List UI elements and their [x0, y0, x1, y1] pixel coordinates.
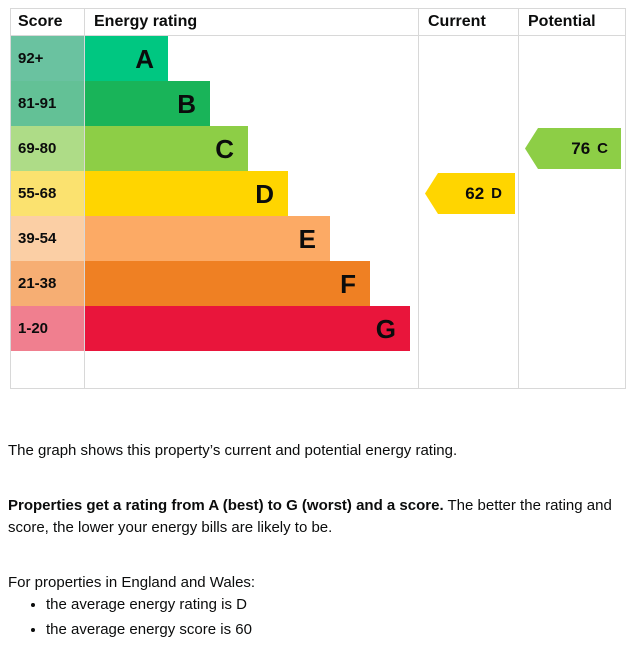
rating-letter-b: B: [177, 91, 196, 117]
current-rating-marker: 62D: [425, 173, 515, 214]
rating-bar-e: E: [85, 216, 330, 261]
list-item: the average energy rating is D: [46, 592, 252, 617]
rating-bar-g: G: [85, 306, 410, 351]
region-averages-list: the average energy rating is Dthe averag…: [8, 592, 252, 642]
score-range-e: 39-54: [11, 216, 84, 261]
rating-letter-g: G: [376, 316, 396, 342]
rating-band-g: 1-20G: [10, 306, 626, 351]
rating-bar-b: B: [85, 81, 210, 126]
column-header-score: Score: [18, 11, 62, 33]
score-range-c: 69-80: [11, 126, 84, 171]
column-header-potential: Potential: [528, 11, 596, 33]
score-range-g: 1-20: [11, 306, 84, 351]
score-range-d: 55-68: [11, 171, 84, 216]
rating-explanation-paragraph: Properties get a rating from A (best) to…: [8, 495, 620, 539]
marker-potential-score: 76: [571, 139, 590, 159]
rating-bar-a: A: [85, 36, 168, 81]
intro-paragraph: The graph shows this property’s current …: [8, 440, 628, 462]
column-header-current: Current: [428, 11, 486, 33]
rating-band-e: 39-54E: [10, 216, 626, 261]
rating-letter-d: D: [255, 181, 274, 207]
marker-current-letter: D: [491, 185, 502, 202]
rating-band-b: 81-91B: [10, 81, 626, 126]
score-range-a: 92+: [11, 36, 84, 81]
rating-band-f: 21-38F: [10, 261, 626, 306]
rating-band-d: 55-68D: [10, 171, 626, 216]
potential-rating-marker: 76C: [525, 128, 621, 169]
score-range-f: 21-38: [11, 261, 84, 306]
list-item: the average energy score is 60: [46, 617, 252, 642]
score-range-b: 81-91: [11, 81, 84, 126]
region-lead-paragraph: For properties in England and Wales:: [8, 572, 628, 594]
rating-band-a: 92+A: [10, 36, 626, 81]
epc-rating-chart: Score Energy rating Current Potential 92…: [10, 8, 626, 389]
rating-bar-f: F: [85, 261, 370, 306]
rating-letter-a: A: [135, 46, 154, 72]
rating-letter-c: C: [215, 136, 234, 162]
rating-letter-e: E: [299, 226, 316, 252]
column-header-rating: Energy rating: [94, 11, 197, 33]
rating-letter-f: F: [340, 271, 356, 297]
marker-potential-letter: C: [597, 140, 608, 157]
rating-bar-c: C: [85, 126, 248, 171]
rating-explanation-bold: Properties get a rating from A (best) to…: [8, 497, 444, 514]
marker-current-score: 62: [465, 184, 484, 204]
rating-bar-d: D: [85, 171, 288, 216]
